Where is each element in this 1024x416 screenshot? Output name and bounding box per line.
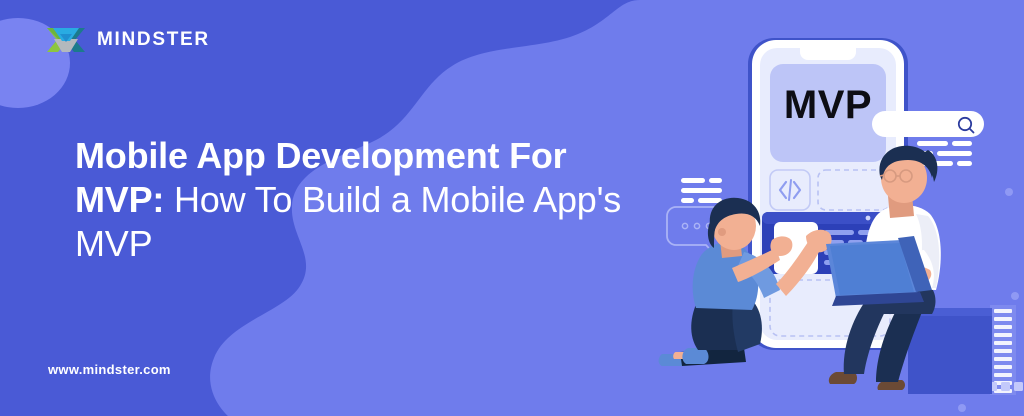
- page-title: Mobile App Development For MVP: How To B…: [75, 134, 645, 266]
- phone-mvp-label: MVP: [784, 83, 872, 127]
- banner-root: MINDSTER Mobile App Development For MVP:…: [0, 0, 1024, 416]
- site-url[interactable]: www.mindster.com: [48, 362, 171, 377]
- server-rack-graphic: [990, 305, 1016, 395]
- hero-illustration: MVP: [640, 0, 1024, 416]
- deco-text-lines-left: [681, 178, 722, 203]
- phone-notch: [800, 48, 856, 60]
- laptop: [826, 236, 932, 306]
- mindster-x-logo-icon: [46, 25, 86, 55]
- brand-logo[interactable]: MINDSTER: [46, 25, 210, 55]
- deco-squares-bottom-right: [988, 382, 1023, 391]
- search-bar[interactable]: [872, 111, 984, 137]
- brand-name: MINDSTER: [97, 29, 210, 51]
